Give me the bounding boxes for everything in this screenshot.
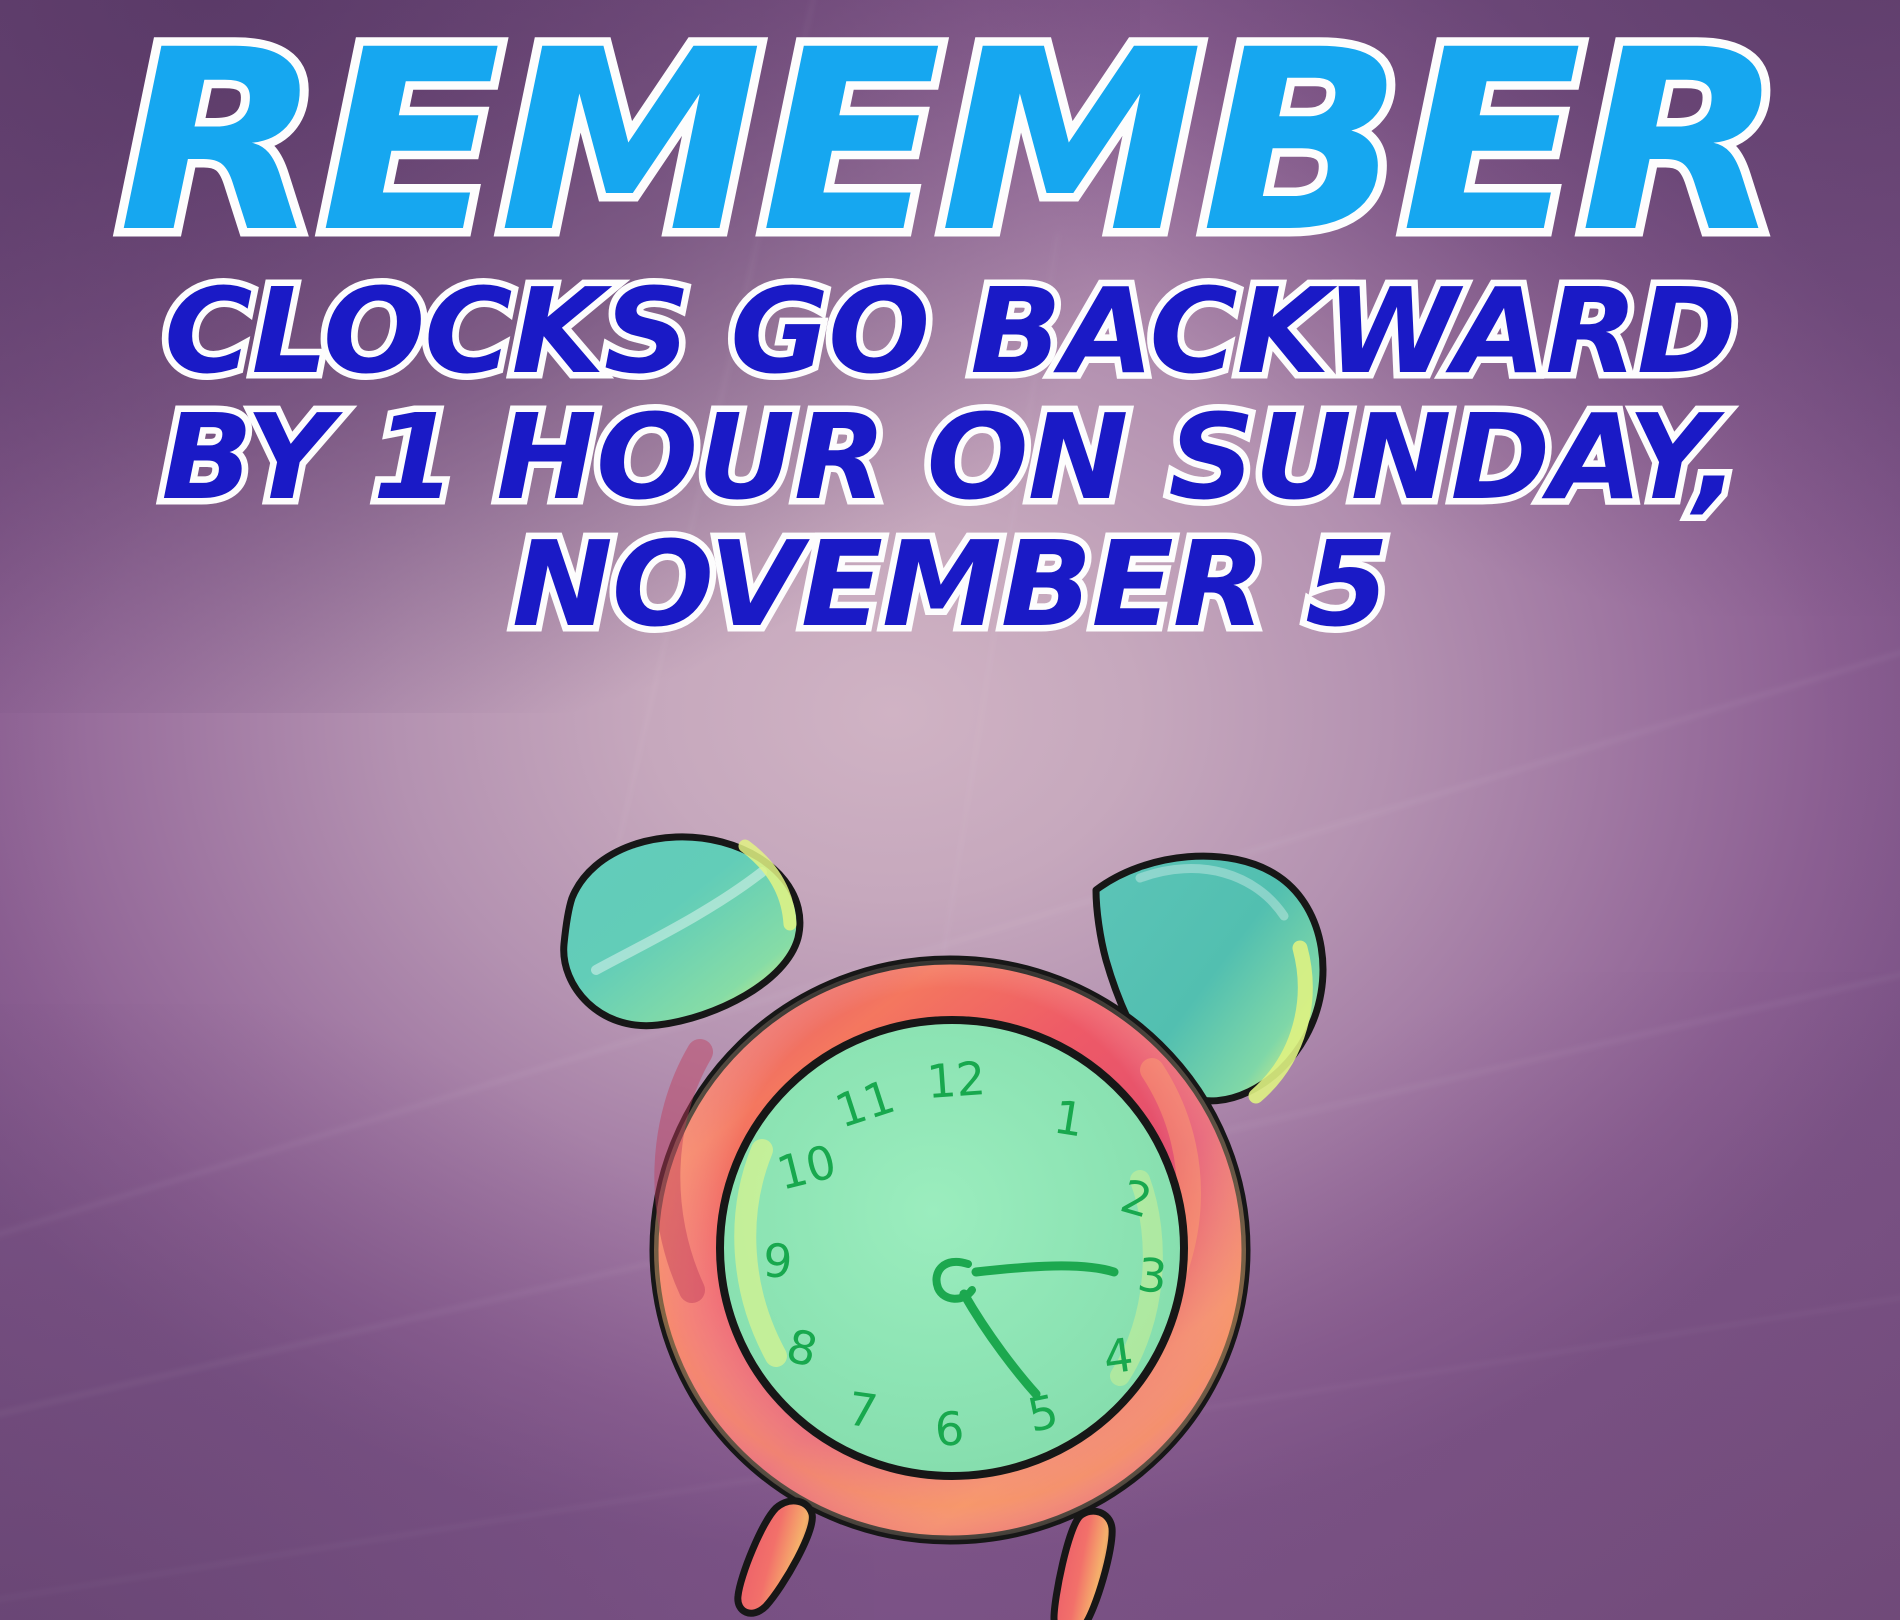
alarm-clock-illustration: 12 1 2 3 4 5 6 7 8 9 10 11 <box>540 820 1360 1620</box>
left-foot <box>738 1501 813 1613</box>
clock-numeral-9: 9 <box>761 1233 794 1289</box>
left-bell-icon <box>564 837 800 1026</box>
poster-text-block: REMEMBER CLOCKS GO BACKWARD BY 1 HOUR ON… <box>0 0 1900 644</box>
clock-numeral-3: 3 <box>1135 1247 1170 1304</box>
page-title: REMEMBER <box>0 0 1900 249</box>
subtitle-line-1: CLOCKS GO BACKWARD <box>0 271 1900 391</box>
clock-numeral-6: 6 <box>933 1401 966 1457</box>
daylight-saving-poster: REMEMBER CLOCKS GO BACKWARD BY 1 HOUR ON… <box>0 0 1900 1620</box>
right-foot <box>1054 1511 1112 1620</box>
subtitle-line-3: NOVEMBER 5 <box>0 524 1900 644</box>
subtitle-line-2: BY 1 HOUR ON SUNDAY, <box>0 397 1900 517</box>
clock-numeral-12: 12 <box>925 1051 987 1109</box>
